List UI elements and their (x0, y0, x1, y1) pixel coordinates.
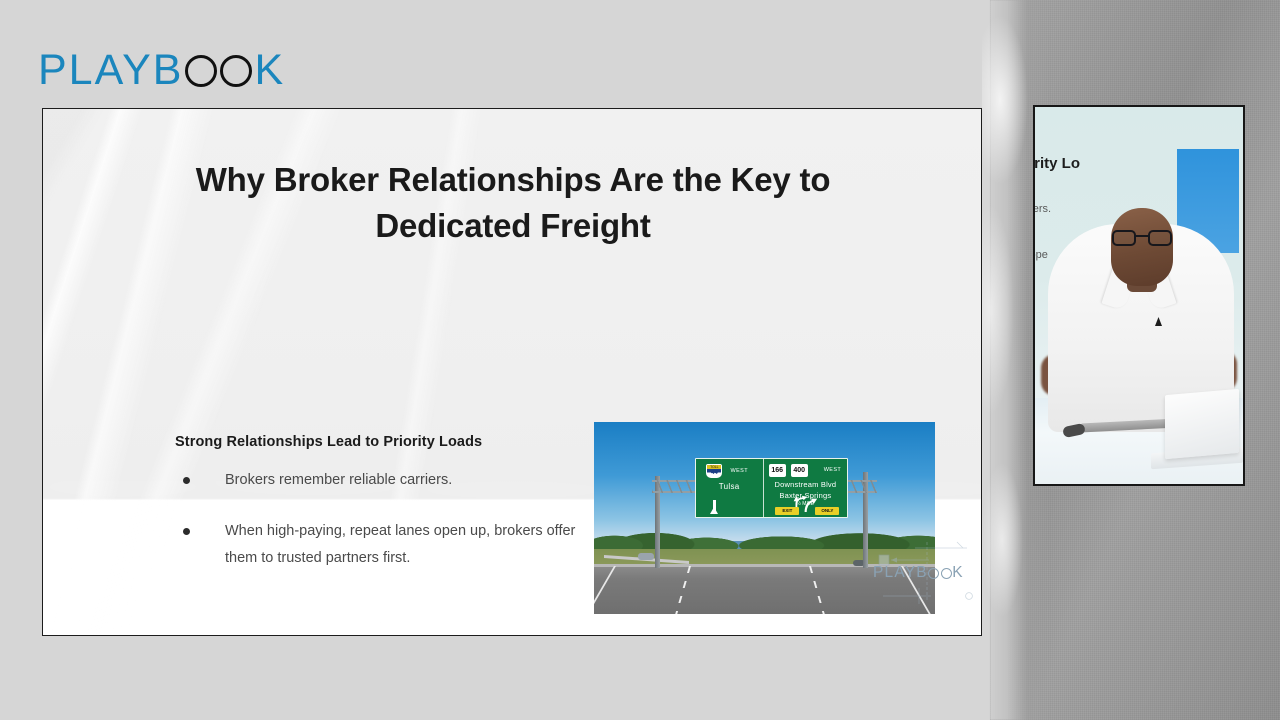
glasses-lens-left (1112, 230, 1136, 246)
shield-number-text: 44 (707, 469, 721, 477)
bullet-dot-icon (183, 528, 190, 535)
sign-right-panel: 166 400 WEST Downstream Blvd Baxter Spri… (764, 459, 847, 517)
slide-subheading: Strong Relationships Lead to Priority Lo… (175, 434, 595, 450)
route-shield-group: 166 400 (769, 464, 808, 477)
glasses-bridge (1136, 235, 1148, 237)
slide-watermark: PLAYB K (873, 564, 973, 614)
sign-left-panel: TOLL 44 WEST Tulsa (696, 459, 764, 517)
sign-city-name: Tulsa (696, 482, 763, 491)
sign-direction-left: WEST (731, 468, 749, 474)
presenter-head (1111, 208, 1173, 286)
list-item: Brokers remember reliable carriers. (183, 467, 603, 494)
sign-street-line-1: Downstream Blvd (764, 480, 847, 489)
slide-title: Why Broker Relationships Are the Key to … (133, 157, 893, 248)
presenter-webcam-feed[interactable]: ority Lo rriers. s ope e (1033, 105, 1245, 486)
logo-o-left-icon (185, 55, 217, 87)
background-slide-line-2: s ope (1033, 249, 1048, 261)
bullet-dot-icon (183, 477, 190, 484)
sign-direction-right: WEST (824, 467, 842, 473)
technical-drawing-lines-icon (871, 540, 982, 614)
us-route-166-shield-icon: 166 (769, 464, 786, 477)
logo-text-after: K (254, 49, 285, 92)
presenter-glasses-icon (1111, 230, 1173, 246)
glasses-lens-right (1148, 230, 1172, 246)
bullet-text: Brokers remember reliable carriers. (225, 467, 603, 494)
background-slide-line-1: rriers. (1033, 203, 1051, 215)
playbook-logo: PLAYB K (38, 46, 285, 94)
background-slide-heading: ority Lo (1033, 155, 1080, 172)
exit-tab-badge: EXIT (775, 507, 799, 515)
list-item: When high-paying, repeat lanes open up, … (183, 518, 603, 572)
photo-vehicle-left (638, 553, 654, 560)
logo-o-right-icon (220, 55, 252, 87)
interstate-44-shield-icon: TOLL 44 (706, 464, 722, 478)
slide-bullet-list: Brokers remember reliable carriers. When… (183, 467, 603, 595)
logo-double-o-icon (185, 55, 252, 87)
us-route-400-shield-icon: 400 (791, 464, 808, 477)
laptop-screen (1165, 389, 1239, 459)
only-tab-badge: ONLY (815, 507, 839, 515)
presentation-slide: Why Broker Relationships Are the Key to … (42, 108, 982, 636)
straight-arrow-head-icon (710, 507, 718, 514)
bullet-text: When high-paying, repeat lanes open up, … (225, 518, 603, 572)
logo-text-before: PLAYB (38, 49, 183, 92)
highway-guide-sign: EXIT 1 TOLL 44 WEST Tulsa 166 400 WEST D… (695, 458, 848, 518)
